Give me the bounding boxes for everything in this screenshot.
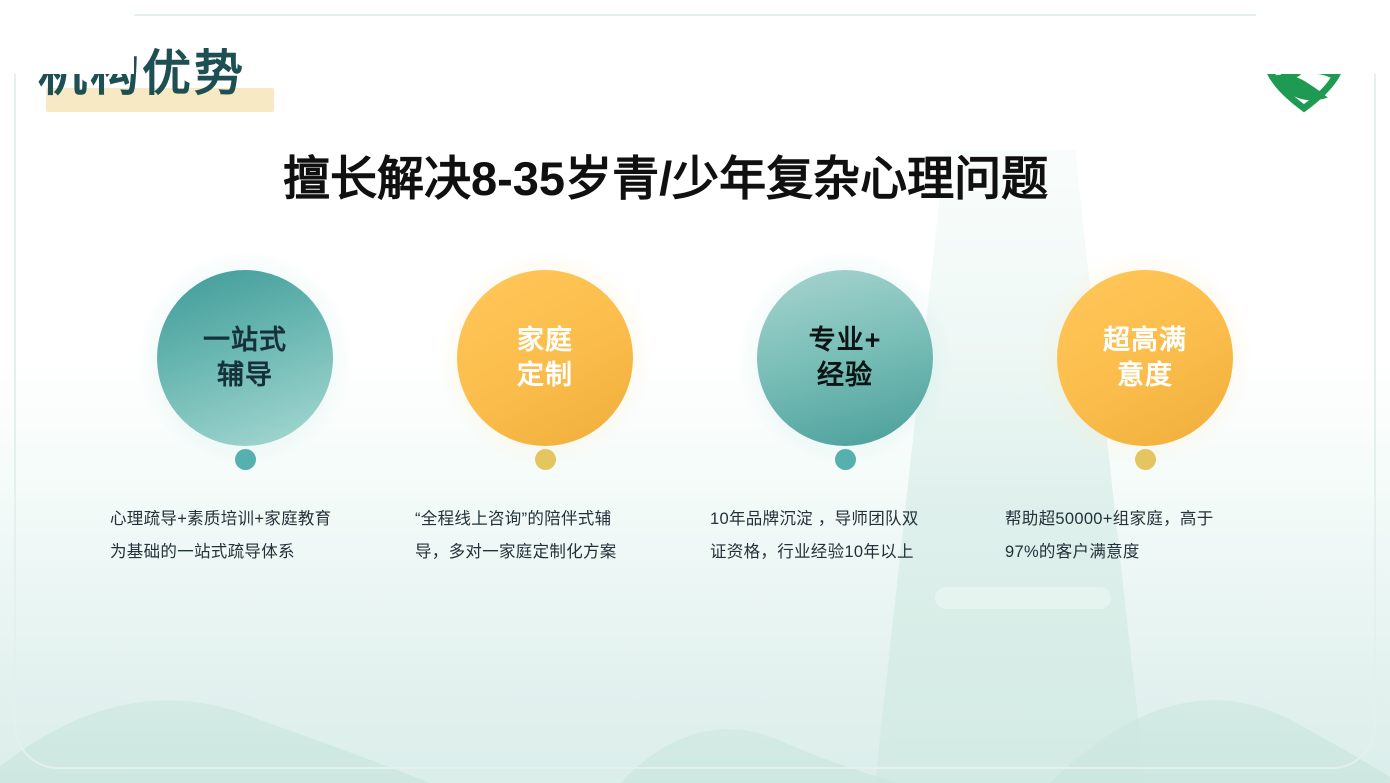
advantage-bubble-3[interactable]: 专业+ 经验: [757, 270, 933, 446]
bubble-label-line1: 超高满: [1103, 323, 1187, 358]
caption-line: 97%的客户满意度: [1005, 536, 1295, 569]
slide-canvas: 机构优势 擅长解决8-35岁青/少年复杂心理问题 一站式 辅导 家庭 定制 专业…: [0, 0, 1390, 783]
caption-line: 帮助超50000+组家庭，高于: [1005, 503, 1295, 536]
bubble-label-line1: 一站式: [203, 323, 287, 358]
bubble-label-line2: 辅导: [217, 358, 273, 393]
caption-line: 10年品牌沉淀 ，导师团队双: [710, 503, 1000, 536]
section-title: 机构优势: [38, 50, 246, 99]
bubble-label-line1: 家庭: [517, 323, 573, 358]
bubble-dot: [835, 449, 856, 470]
section-title-block: 机构优势: [38, 50, 246, 99]
bubble-label-line1: 专业+: [809, 323, 882, 358]
caption-line: 证资格，行业经验10年以上: [710, 536, 1000, 569]
caption-line: 为基础的一站式疏导体系: [110, 536, 400, 569]
advantage-caption-4: 帮助超50000+组家庭，高于 97%的客户满意度: [1005, 503, 1295, 569]
advantage-bubble-4[interactable]: 超高满 意度: [1057, 270, 1233, 446]
caption-line: “全程线上咨询”的陪伴式辅: [415, 503, 705, 536]
bubble-dot: [1135, 449, 1156, 470]
bubble-label-line2: 定制: [517, 358, 573, 393]
advantage-caption-1: 心理疏导+素质培训+家庭教育 为基础的一站式疏导体系: [110, 503, 400, 569]
advantage-bubble-1[interactable]: 一站式 辅导: [157, 270, 333, 446]
bubble-dot: [235, 449, 256, 470]
caption-line: 导，多对一家庭定制化方案: [415, 536, 705, 569]
bubble-dot: [535, 449, 556, 470]
headline: 擅长解决8-35岁青/少年复杂心理问题: [283, 140, 1048, 209]
caption-line: 心理疏导+素质培训+家庭教育: [110, 503, 400, 536]
advantage-caption-2: “全程线上咨询”的陪伴式辅 导，多对一家庭定制化方案: [415, 503, 705, 569]
advantage-bubbles: 一站式 辅导 家庭 定制 专业+ 经验 超高满 意度: [0, 0, 1390, 783]
advantage-bubble-2[interactable]: 家庭 定制: [457, 270, 633, 446]
bubble-label-line2: 经验: [817, 358, 873, 393]
bubble-label-line2: 意度: [1117, 358, 1173, 393]
heart-landscape-logo: [1258, 28, 1350, 116]
advantage-caption-3: 10年品牌沉淀 ，导师团队双 证资格，行业经验10年以上: [710, 503, 1000, 569]
